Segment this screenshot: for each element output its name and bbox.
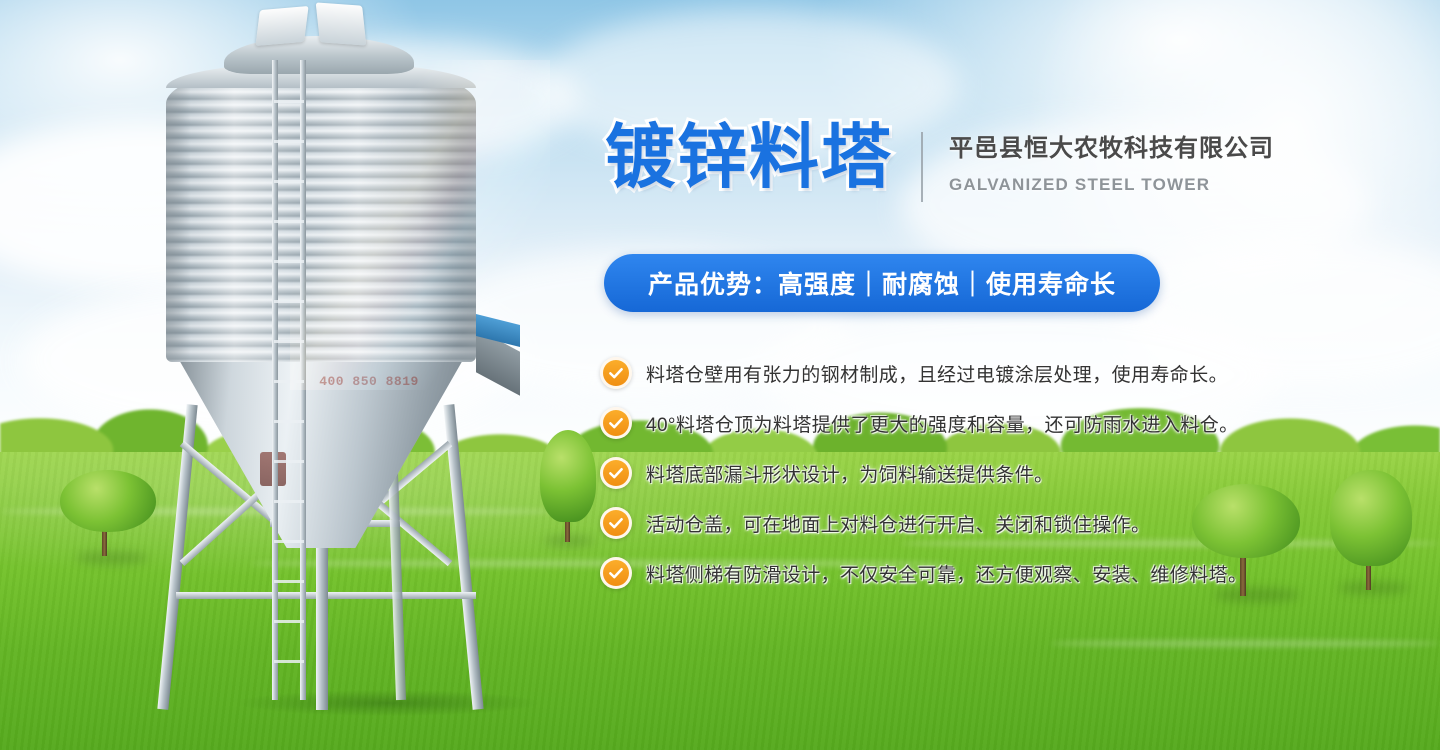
tree-crown [1330,470,1412,566]
silo-side-ladder [272,60,306,700]
ladder-rung [274,660,304,663]
feature-text: 料塔侧梯有防滑设计，不仅安全可靠，还方便观察、安装、维修料塔。 [646,560,1247,587]
feature-text: 活动仓盖，可在地面上对料仓进行开启、关闭和锁住操作。 [646,510,1150,537]
company-block: 平邑县恒大农牧科技有限公司 GALVANIZED STEEL TOWER [949,128,1274,195]
check-icon [600,407,632,439]
advantage-banner: 产品优势：高强度｜耐腐蚀｜使用寿命长 [604,254,1160,312]
ladder-rung [274,260,304,263]
ladder-rung [274,540,304,543]
list-item: 料塔侧梯有防滑设计，不仅安全可靠，还方便观察、安装、维修料塔。 [600,548,1300,598]
tree-shadow [1338,582,1410,594]
feature-text: 40°料塔仓顶为料塔提供了更大的强度和容量，还可防雨水进入料仓。 [646,410,1239,437]
silo-lid-panel [316,2,367,45]
check-icon [600,357,632,389]
english-subtitle: GALVANIZED STEEL TOWER [949,175,1274,195]
feature-text: 料塔仓壁用有张力的钢材制成，且经过电镀涂层处理，使用寿命长。 [646,360,1228,387]
company-name: 平邑县恒大农牧科技有限公司 [949,128,1274,163]
ladder-rung [274,460,304,463]
silo-leg [388,470,406,700]
silo-corrugated-body [166,62,476,362]
page-title: 镀锌料塔 [605,122,893,192]
ladder-rung [274,180,304,183]
feature-text: 料塔底部漏斗形状设计，为饲料输送提供条件。 [646,460,1053,487]
silo-brand-phone: 400 850 8819 [304,374,434,389]
ladder-rung [274,300,304,303]
list-item: 料塔仓壁用有张力的钢材制成，且经过电镀涂层处理，使用寿命长。 [600,348,1300,398]
check-icon [600,457,632,489]
ladder-rung [274,140,304,143]
tree-crown [540,430,596,522]
feature-list: 料塔仓壁用有张力的钢材制成，且经过电镀涂层处理，使用寿命长。 40°料塔仓顶为料… [600,348,1300,598]
ladder-rung [274,220,304,223]
check-icon [600,507,632,539]
title-block: 镀锌料塔 平邑县恒大农牧科技有限公司 GALVANIZED STEEL TOWE… [605,122,1274,202]
list-item: 40°料塔仓顶为料塔提供了更大的强度和容量，还可防雨水进入料仓。 [600,398,1300,448]
silo-roof-cap [224,36,414,74]
galvanized-silo-image: 平邑县恒大农牧科技有限公司 400 850 8819 [120,0,520,750]
ladder-rung [274,380,304,383]
list-item: 料塔底部漏斗形状设计，为饲料输送提供条件。 [600,448,1300,498]
title-divider [921,132,923,202]
check-icon [600,557,632,589]
ladder-rung [274,620,304,623]
ladder-rung [274,500,304,503]
ladder-rung [274,420,304,423]
hero-content: 镀锌料塔 平邑县恒大农牧科技有限公司 GALVANIZED STEEL TOWE… [600,0,1300,750]
ladder-rung [274,340,304,343]
silo-lid-panel [255,6,308,46]
list-item: 活动仓盖，可在地面上对料仓进行开启、关闭和锁住操作。 [600,498,1300,548]
hero-banner: 平邑县恒大农牧科技有限公司 400 850 8819 [0,0,1440,750]
silo-leg [443,404,483,710]
ladder-rung [274,580,304,583]
ladder-rung [274,100,304,103]
